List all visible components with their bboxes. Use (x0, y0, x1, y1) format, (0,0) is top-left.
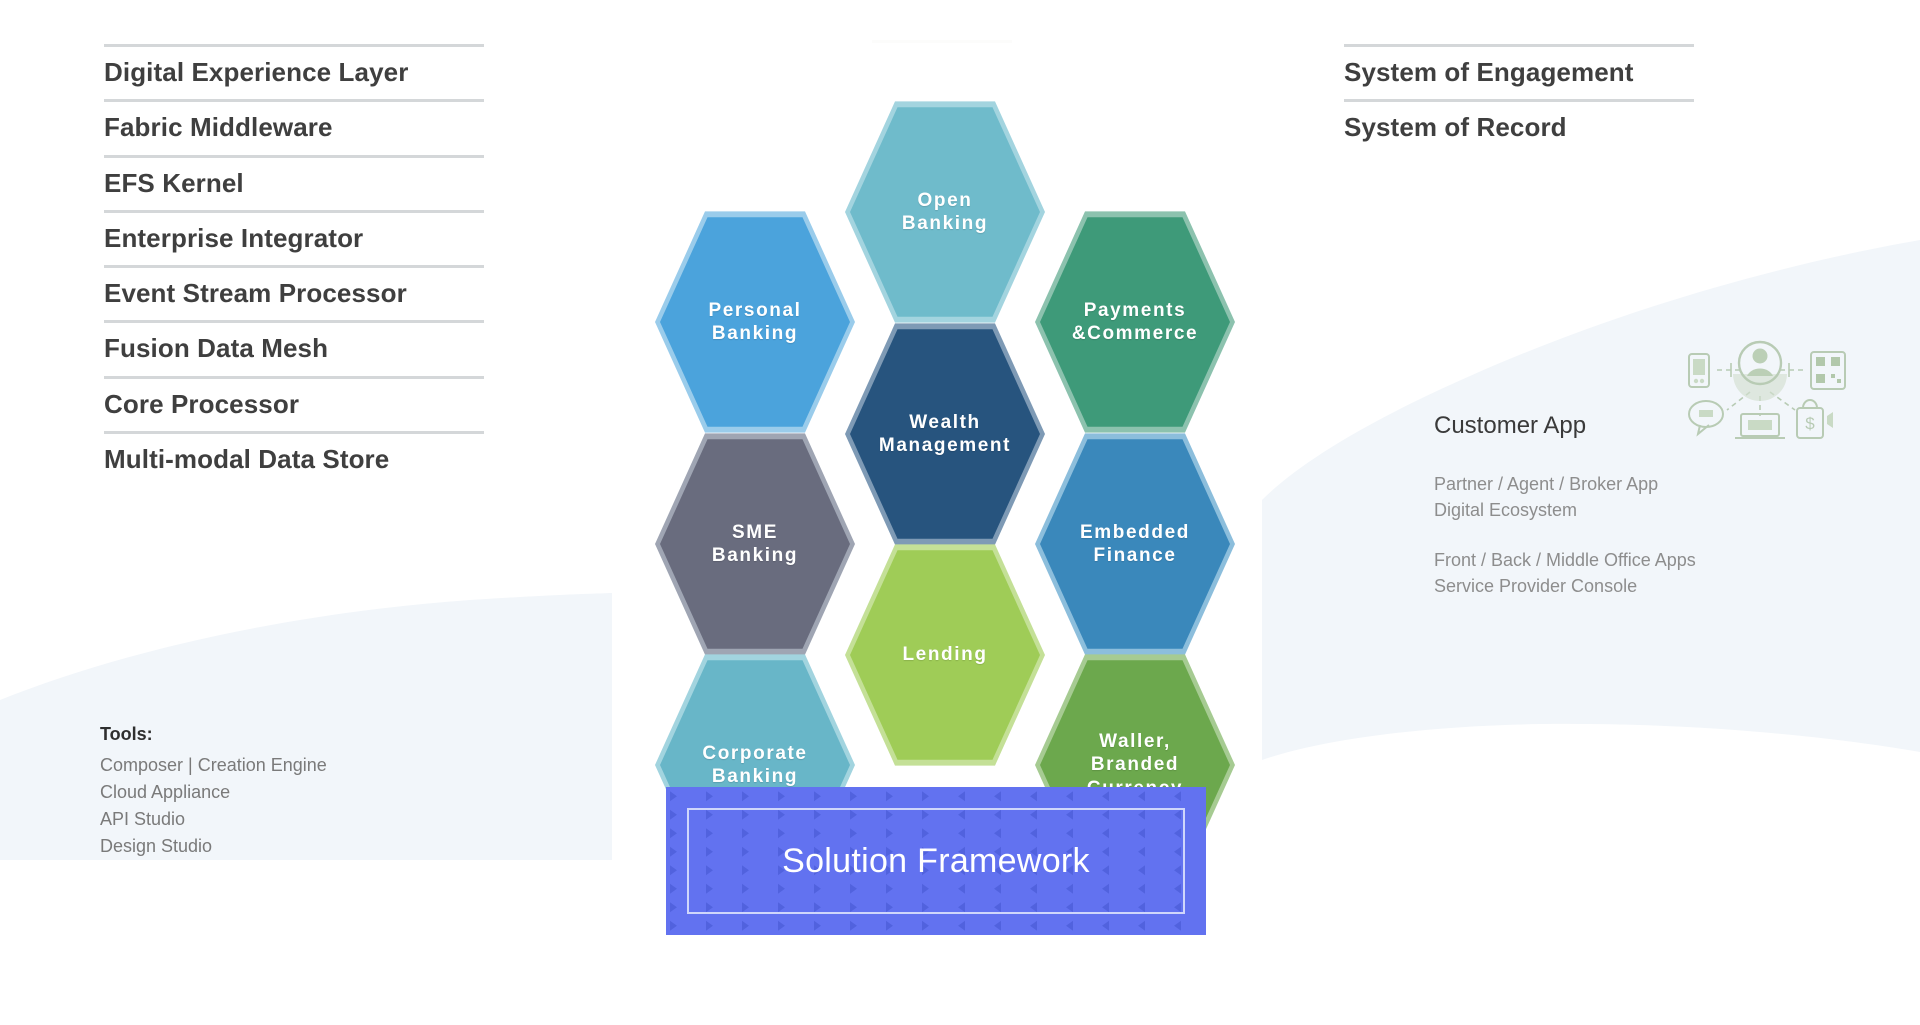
hexagon-fill: OpenBanking (850, 104, 1040, 320)
solution-framework-bar[interactable]: Solution Framework (666, 787, 1206, 935)
layer-row-enterprise-integrator[interactable]: Enterprise Integrator (104, 210, 484, 265)
hexagon-fill: Lending (850, 547, 1040, 763)
hexagon-personal-banking[interactable]: PersonalBanking (655, 208, 855, 436)
hexagon-fill: SMEBanking (660, 436, 850, 652)
layer-row-fabric-middleware[interactable]: Fabric Middleware (104, 99, 484, 154)
layer-label: Fabric Middleware (104, 114, 484, 141)
customer-app-group-one: Partner / Agent / Broker AppDigital Ecos… (1434, 471, 1834, 523)
layer-row-system-of-record[interactable]: System of Record (1344, 99, 1694, 154)
layer-row-efs-kernel[interactable]: EFS Kernel (104, 155, 484, 210)
solution-framework-label: Solution Framework (782, 842, 1090, 881)
tools-item-design-studio: Design Studio (100, 833, 520, 860)
layer-label: Multi-modal Data Store (104, 446, 484, 473)
layer-label: System of Record (1344, 114, 1694, 141)
hexagon-lending[interactable]: Lending (845, 541, 1045, 769)
customer-app-line: Front / Back / Middle Office Apps (1434, 547, 1834, 573)
hexagon-label: OpenBanking (850, 189, 1040, 235)
layer-label: EFS Kernel (104, 170, 484, 197)
platform-layer-list: Digital Experience Layer Fabric Middlewa… (104, 44, 484, 486)
smartphone-icon (1689, 354, 1709, 387)
layer-row-event-stream-processor[interactable]: Event Stream Processor (104, 265, 484, 320)
hexagon-sme-banking[interactable]: SMEBanking (655, 430, 855, 658)
hexagon-wealth-management[interactable]: WealthManagement (845, 320, 1045, 548)
system-type-list: System of Engagement System of Record (1344, 44, 1694, 155)
layer-label: Fusion Data Mesh (104, 335, 484, 362)
layer-label: Enterprise Integrator (104, 225, 484, 252)
layer-label: Digital Experience Layer (104, 59, 484, 86)
layer-row-multi-modal-data-store[interactable]: Multi-modal Data Store (104, 431, 484, 486)
customer-app-line: Service Provider Console (1434, 573, 1834, 599)
tools-item-composer: Composer | Creation Engine (100, 752, 520, 779)
tools-title: Tools: (100, 722, 520, 746)
tools-item-cloud-appliance: Cloud Appliance (100, 779, 520, 806)
customer-app-title: Customer App (1434, 412, 1834, 441)
hexagon-label: SMEBanking (660, 521, 850, 567)
layer-row-digital-experience[interactable]: Digital Experience Layer (104, 44, 484, 99)
tools-item-api-studio: API Studio (100, 806, 520, 833)
network-dome (1733, 374, 1787, 401)
hexagon-fill: Payments&Commerce (1040, 214, 1230, 430)
hexagon-payments-commerce[interactable]: Payments&Commerce (1035, 208, 1235, 436)
hexagon-label: CorporateBanking (660, 742, 850, 788)
hexagon-label: EmbeddedFinance (1040, 521, 1230, 567)
hexagon-label: PersonalBanking (660, 299, 850, 345)
qr-code-icon (1811, 352, 1845, 389)
customer-app-line: Partner / Agent / Broker App (1434, 471, 1834, 497)
capability-hexagon-cluster: OpenBankingPersonalBankingPayments&Comme… (655, 98, 1235, 768)
hexagon-embedded-finance[interactable]: EmbeddedFinance (1035, 430, 1235, 658)
hexagon-fill: EmbeddedFinance (1040, 436, 1230, 652)
layer-row-system-of-engagement[interactable]: System of Engagement (1344, 44, 1694, 99)
hexagon-fill: PersonalBanking (660, 214, 850, 430)
hexagon-label: WealthManagement (850, 411, 1040, 457)
layer-label: System of Engagement (1344, 59, 1694, 86)
top-artifact-line (872, 40, 1012, 43)
hexagon-open-banking[interactable]: OpenBanking (845, 98, 1045, 326)
layer-row-core-processor[interactable]: Core Processor (104, 376, 484, 431)
layer-label: Core Processor (104, 391, 484, 418)
layer-label: Event Stream Processor (104, 280, 484, 307)
customer-app-group-two: Front / Back / Middle Office AppsService… (1434, 547, 1834, 599)
tools-block: Tools: Composer | Creation Engine Cloud … (100, 722, 520, 860)
hexagon-label: Payments&Commerce (1040, 299, 1230, 345)
hexagon-label: Lending (850, 643, 1040, 666)
customer-app-block: Customer AppPartner / Agent / Broker App… (1434, 412, 1834, 623)
hexagon-fill: WealthManagement (850, 326, 1040, 542)
customer-app-line: Digital Ecosystem (1434, 497, 1834, 523)
layer-row-fusion-data-mesh[interactable]: Fusion Data Mesh (104, 320, 484, 375)
